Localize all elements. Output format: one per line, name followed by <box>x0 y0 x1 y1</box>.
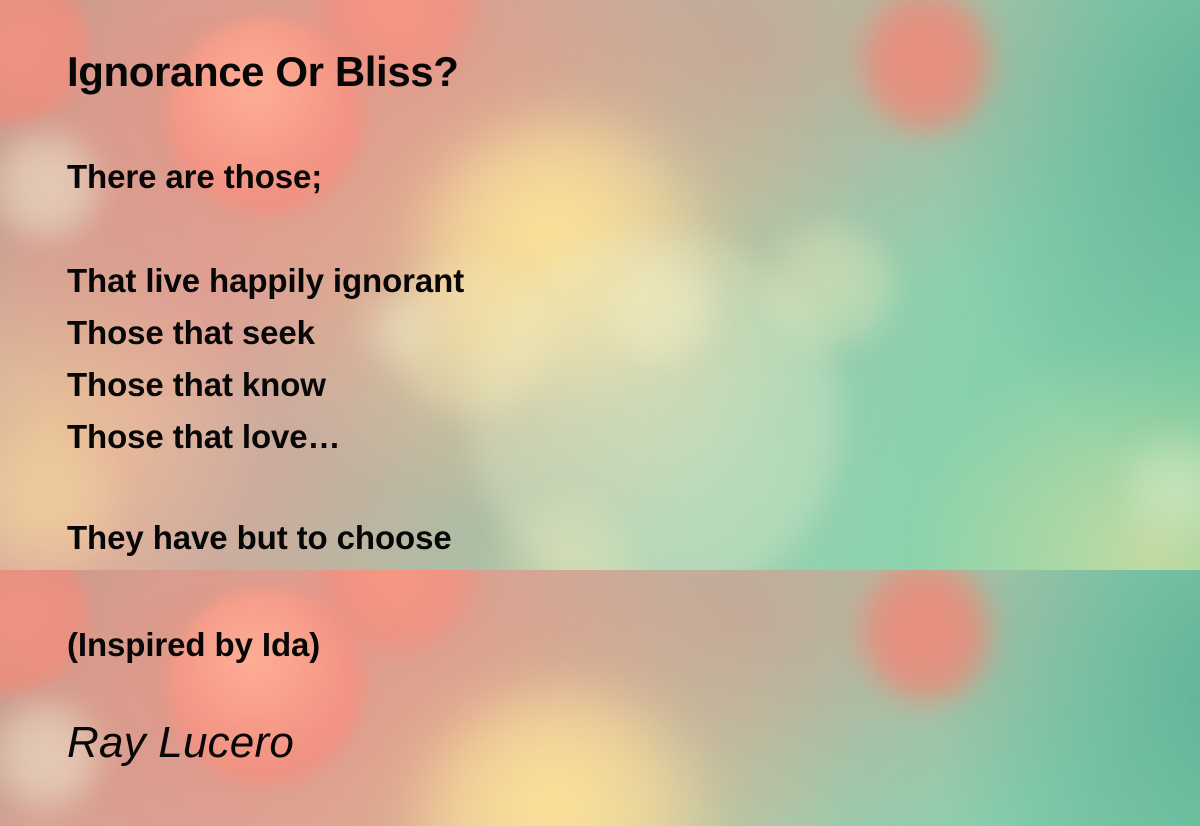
poem-text-layer: Ignorance Or Bliss? There are those; Tha… <box>0 0 1200 826</box>
poem-line: Those that seek <box>67 314 315 352</box>
poem-author-signature: Ray Lucero <box>67 718 294 768</box>
poem-dedication: (Inspired by Ida) <box>67 626 320 664</box>
page-title: Ignorance Or Bliss? <box>67 48 459 96</box>
poem-line: Those that love… <box>67 418 340 456</box>
poem-line: There are those; <box>67 158 322 196</box>
poem-image-card: Ignorance Or Bliss? There are those; Tha… <box>0 0 1200 826</box>
poem-line: That live happily ignorant <box>67 262 464 300</box>
poem-line: Those that know <box>67 366 326 404</box>
poem-line: They have but to choose <box>67 519 452 557</box>
